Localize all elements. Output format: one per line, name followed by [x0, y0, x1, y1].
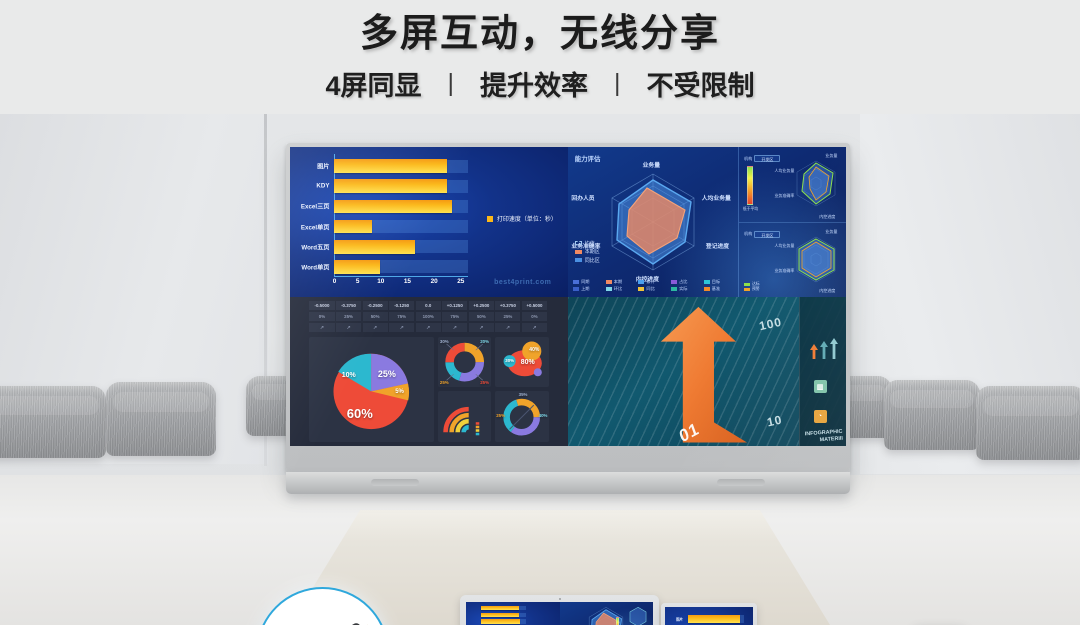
mini-radar-legend: 达标 预警 [744, 282, 760, 292]
pie-slice-label: 10% [342, 372, 356, 379]
swatch-label: 本期 [614, 279, 622, 285]
mini-axis-label: 业务量 [825, 153, 837, 159]
mini-label: 35% [519, 392, 528, 397]
swatch-icon [573, 280, 579, 284]
legend-swatch-icon [575, 241, 582, 245]
org-selector[interactable]: 机构 开发区 [744, 155, 780, 162]
chair [0, 386, 106, 458]
pie-slice-label: 60% [347, 406, 373, 421]
quadrant-bar-chart: 图片 KDY Excel三页 Excel [290, 147, 568, 297]
mini-label: 40% [539, 413, 548, 418]
swatch-label: 环比 [614, 286, 622, 292]
legend-entry: 预警 [744, 287, 760, 292]
legend-swatch-icon [487, 216, 493, 222]
selector-label: 机构 [744, 156, 752, 162]
x-tick: 15 [404, 278, 411, 291]
swatch-icon [573, 287, 579, 291]
mini-label: 80% [521, 359, 535, 366]
pie-cards: 60% 25% 10% 5% [309, 337, 548, 442]
infographic-caption: INFOGRAPHIC MATERIII [805, 428, 844, 444]
table-cell: 0.0 [416, 301, 441, 310]
swatch-entry: 同比 [638, 286, 667, 292]
swatch-entry: 占比 [671, 279, 700, 285]
mini-axis-label: 业务量 [825, 229, 837, 235]
radar-axis-label: 人均业务量 [702, 193, 731, 202]
mini-radar-svg [627, 606, 649, 625]
swatch-entry: 本期 [606, 279, 635, 285]
table-cell: ↗ [389, 323, 414, 332]
table-cell: 25% [495, 312, 520, 321]
bar-row: Excel三页 [334, 196, 467, 216]
table-cell: ↗ [442, 323, 467, 332]
speaker-grille-left [371, 479, 419, 486]
arrow-up-icon [830, 338, 838, 359]
pie-chart-card: 60% 25% 10% 5% [309, 337, 433, 442]
bar-label: Word单页 [301, 262, 329, 271]
bar-row: 图片 [688, 613, 744, 625]
mini-radar-svg [790, 158, 842, 210]
table-cell: 0% [309, 312, 334, 321]
bar-row [481, 605, 526, 612]
quadrant-radar-dashboard: 能力评估 [568, 147, 846, 297]
chair [976, 386, 1080, 460]
legend-label: 预警 [752, 287, 760, 292]
mini-radar-svg [790, 234, 842, 286]
display-screen: 图片 KDY Excel三页 Excel [290, 147, 846, 446]
swatch-label: 实际 [679, 286, 687, 292]
swatch-label: 上期 [581, 286, 589, 292]
feature-separator-0: | [448, 69, 455, 98]
bar [334, 200, 451, 214]
swatch-label: 基准 [712, 286, 720, 292]
mini-chart-card: 35% 40% 25% [495, 391, 548, 441]
swatch-label: 目标 [712, 279, 720, 285]
table-cell: ↗ [363, 323, 388, 332]
mini-axis-label: 人均业务量 [774, 168, 794, 174]
radar-legend: 均值 本期区 同比区 [575, 240, 600, 266]
bar [481, 619, 521, 623]
table-cell: -0.1250 [389, 301, 414, 310]
radar-side-panels: 机构 开发区 低于平均 [738, 147, 846, 297]
swatch-icon [638, 280, 644, 284]
mini-label: 25% [480, 380, 489, 385]
bar [334, 179, 446, 193]
pie-slice-label: 25% [378, 369, 396, 379]
table-cell: ↗ [495, 323, 520, 332]
table-cell: -0.3750 [336, 301, 361, 310]
swatch-entry: 实际 [671, 286, 700, 292]
quadrant-arrow-infographic: 100 10 01 ▥ ◔ INFOGRAPHIC MATERIII [568, 297, 846, 447]
arrow-up-icon [810, 344, 818, 359]
swatch-label: 占比 [679, 279, 687, 285]
legend-swatch-icon [744, 288, 750, 292]
mini-chart-card: 40% 80% 30% [495, 337, 548, 387]
table-cell: ↗ [309, 323, 334, 332]
x-tick: 0 [333, 278, 337, 291]
swatch-label: 同期 [581, 279, 589, 285]
data-table: -0.5000 -0.3750 -0.2500 -0.1250 0.0 +0.1… [309, 301, 548, 332]
radar-axis-label: 回办人员 [571, 193, 594, 202]
org-selector[interactable]: 机构 开发区 [744, 231, 780, 238]
bar [481, 613, 519, 617]
bar-chart-plot: 图片 KDY Excel三页 Excel单页 Word五页 Word单页 [688, 613, 744, 625]
legend-label: 均值 [585, 240, 595, 247]
legend-swatch-icon [575, 258, 582, 262]
feature-separator-1: | [614, 69, 621, 98]
radar-layout: 能力评估 [568, 147, 846, 297]
mini-chart-card [438, 391, 491, 441]
bar-label: KDY [316, 183, 329, 190]
mini-label: 40% [529, 347, 539, 353]
mini-label: 30% [440, 339, 449, 344]
swatch-label: 累计 [646, 279, 654, 285]
mini-chart-grid: 30% 20% 25% 25% 40% [438, 337, 549, 442]
bar-row: Word五页 [334, 237, 467, 257]
table-row: ↗ ↗ ↗ ↗ ↗ ↗ ↗ ↗ ↗ [309, 323, 548, 332]
bar-label: Excel单页 [301, 222, 330, 231]
speaker-grille-right [717, 479, 765, 486]
mini-axis-label: 业务准确率 [774, 268, 794, 274]
color-scale-label: 低于平均 [743, 207, 758, 212]
swatch-entry: 目标 [704, 279, 733, 285]
radar-chart-svg [583, 604, 629, 625]
bar [481, 606, 519, 610]
bar [334, 240, 414, 254]
table-cell: ↗ [416, 323, 441, 332]
mini-axis-label: 人均业务量 [774, 243, 794, 249]
bar-label: 图片 [676, 616, 683, 621]
chair [106, 382, 216, 456]
mini-label: 30% [505, 358, 514, 363]
radar-title: 能力评估 [575, 154, 601, 163]
legend-label: 同比区 [585, 257, 600, 264]
arc-chart-svg [438, 391, 491, 441]
feature-item-0: 4屏同显 [325, 64, 421, 103]
legend-label: 打印速度（单位：秒） [497, 214, 557, 223]
swatch-entry: 基准 [704, 286, 733, 292]
mini-arrow-row [810, 338, 838, 359]
arrow-up-icon [820, 341, 828, 359]
secondary-monitor-screen: 图片 KDY Excel三页 Excel单页 Word五页 Word单页 0 5… [665, 607, 753, 625]
bar-row: KDY [334, 176, 467, 196]
legend-swatch-icon [744, 283, 750, 287]
mini-axis-label: 业务准确率 [774, 193, 794, 199]
radar-axis-label: 登记进度 [706, 241, 729, 250]
legend-label: 本期区 [585, 248, 600, 255]
table-cell: 75% [442, 312, 467, 321]
clock-badge-icon: ◔ [814, 410, 827, 423]
table-row: -0.5000 -0.3750 -0.2500 -0.1250 0.0 +0.1… [309, 301, 548, 310]
swatch-entry: 同期 [573, 279, 602, 285]
swatch-entry: 环比 [606, 286, 635, 292]
promo-header: 多屏互动，无线分享 4屏同显 | 提升效率 | 不受限制 [0, 0, 1080, 114]
selector-value[interactable]: 开发区 [754, 155, 780, 162]
radar-axis-label: 业务量 [643, 160, 660, 169]
bar-row: Word单页 [334, 257, 467, 277]
swatch-icon [671, 280, 677, 284]
chart-badge-icon: ▥ [814, 380, 827, 393]
side-panel [799, 297, 846, 447]
bar-label: Excel三页 [301, 202, 330, 211]
table-cell: ↗ [522, 323, 547, 332]
bar-row [481, 612, 526, 619]
table-cell: 100% [416, 312, 441, 321]
swatch-icon [704, 280, 710, 284]
table-cell: +0.2500 [469, 301, 494, 310]
meeting-room-scene: 图片 KDY Excel三页 Excel [0, 114, 1080, 625]
color-scale-bar [747, 166, 753, 205]
legend-entry: 本期区 [575, 248, 600, 255]
mini-label: 25% [496, 413, 505, 418]
radar-chart-svg [597, 166, 709, 278]
chair [884, 380, 980, 450]
display-bottom-bezel [286, 472, 850, 494]
mini-label: 20% [480, 339, 489, 344]
x-tick: 25 [457, 278, 464, 291]
swatch-icon [704, 287, 710, 291]
pie-slice-label: 5% [395, 389, 404, 395]
table-cell: 50% [363, 312, 388, 321]
bar-row: 图片 [334, 156, 467, 176]
bar [688, 615, 740, 623]
bar-chart-legend: 打印速度（单位：秒） [487, 214, 557, 223]
legend-entry: 均值 [575, 240, 600, 247]
laptop-lid: 60% [460, 595, 659, 625]
selector-label: 机构 [744, 231, 752, 237]
legend-swatch-icon [575, 250, 582, 254]
mirror-quadrant-bar-chart [466, 602, 560, 625]
table-cell: 0% [522, 312, 547, 321]
radar-swatch-row: 同期 本期 累计 占比 目标 上期 环比 同比 实际 基准 [573, 279, 732, 293]
swatch-entry: 累计 [638, 279, 667, 285]
table-cell: -0.5000 [309, 301, 334, 310]
page-title: 多屏互动，无线分享 [0, 2, 1080, 57]
quadrant-pie-dashboard: -0.5000 -0.3750 -0.2500 -0.1250 0.0 +0.1… [290, 297, 568, 447]
x-tick: 10 [377, 278, 384, 291]
table-cell: 75% [389, 312, 414, 321]
table-cell: +0.5000 [522, 301, 547, 310]
bar [334, 260, 379, 274]
bar-chart-plot: 图片 KDY Excel三页 Excel [334, 156, 467, 277]
table-cell: -0.2500 [363, 301, 388, 310]
laptop[interactable]: 60% [452, 595, 667, 625]
bar-chart-x-ticks: 0 5 10 15 20 25 [334, 278, 467, 291]
table-cell: ↗ [469, 323, 494, 332]
mini-chart-card: 30% 20% 25% 25% [438, 337, 491, 387]
table-cell: 25% [336, 312, 361, 321]
secondary-monitor[interactable]: 图片 KDY Excel三页 Excel单页 Word五页 Word单页 0 5… [661, 603, 757, 625]
table-cell: ↗ [336, 323, 361, 332]
table-cell: 50% [469, 312, 494, 321]
mini-radar-panel: 机构 开发区 [739, 222, 846, 297]
bar-row [481, 618, 526, 625]
feature-item-1: 提升效率 [480, 64, 588, 103]
dongle-cable [320, 622, 363, 625]
table-cell: +0.1250 [442, 301, 467, 310]
conference-display[interactable]: 图片 KDY Excel三页 Excel [286, 143, 850, 472]
bar-chart-plot [481, 605, 526, 625]
swatch-label: 同比 [646, 286, 654, 292]
feature-list: 4屏同显 | 提升效率 | 不受限制 [0, 64, 1080, 103]
swatch-icon [638, 287, 644, 291]
swatch-icon [606, 280, 612, 284]
pie-chart-svg [309, 337, 433, 442]
webcam-icon [559, 598, 561, 600]
mirror-quadrant-radar [560, 602, 654, 625]
mini-label: 25% [440, 380, 449, 385]
x-tick: 5 [356, 278, 360, 291]
growth-arrow-icon [640, 305, 762, 443]
swatch-icon [671, 287, 677, 291]
bar [334, 220, 371, 234]
mini-axis-label: 内控进度 [819, 214, 835, 220]
radar-main-panel: 能力评估 [568, 147, 738, 297]
bar-label: Word五页 [301, 242, 329, 251]
watermark: best4print.com [494, 279, 551, 286]
bar-label: 图片 [317, 162, 329, 171]
table-row: 0% 25% 50% 75% 100% 75% 50% 25% 0% [309, 312, 548, 321]
mini-radar-panel: 机构 开发区 低于平均 [739, 147, 846, 222]
bar [334, 159, 446, 173]
table-cell: +0.3750 [495, 301, 520, 310]
feature-item-2: 不受限制 [647, 64, 755, 103]
mini-axis-label: 内控进度 [819, 288, 835, 294]
color-scale-bar [616, 617, 619, 625]
x-tick: 20 [431, 278, 438, 291]
bar-row: Excel单页 [334, 216, 467, 236]
swatch-entry: 上期 [573, 286, 602, 292]
laptop-screen: 60% [466, 602, 653, 625]
legend-entry: 同比区 [575, 257, 600, 264]
selector-value[interactable]: 开发区 [754, 231, 780, 238]
swatch-icon [606, 287, 612, 291]
